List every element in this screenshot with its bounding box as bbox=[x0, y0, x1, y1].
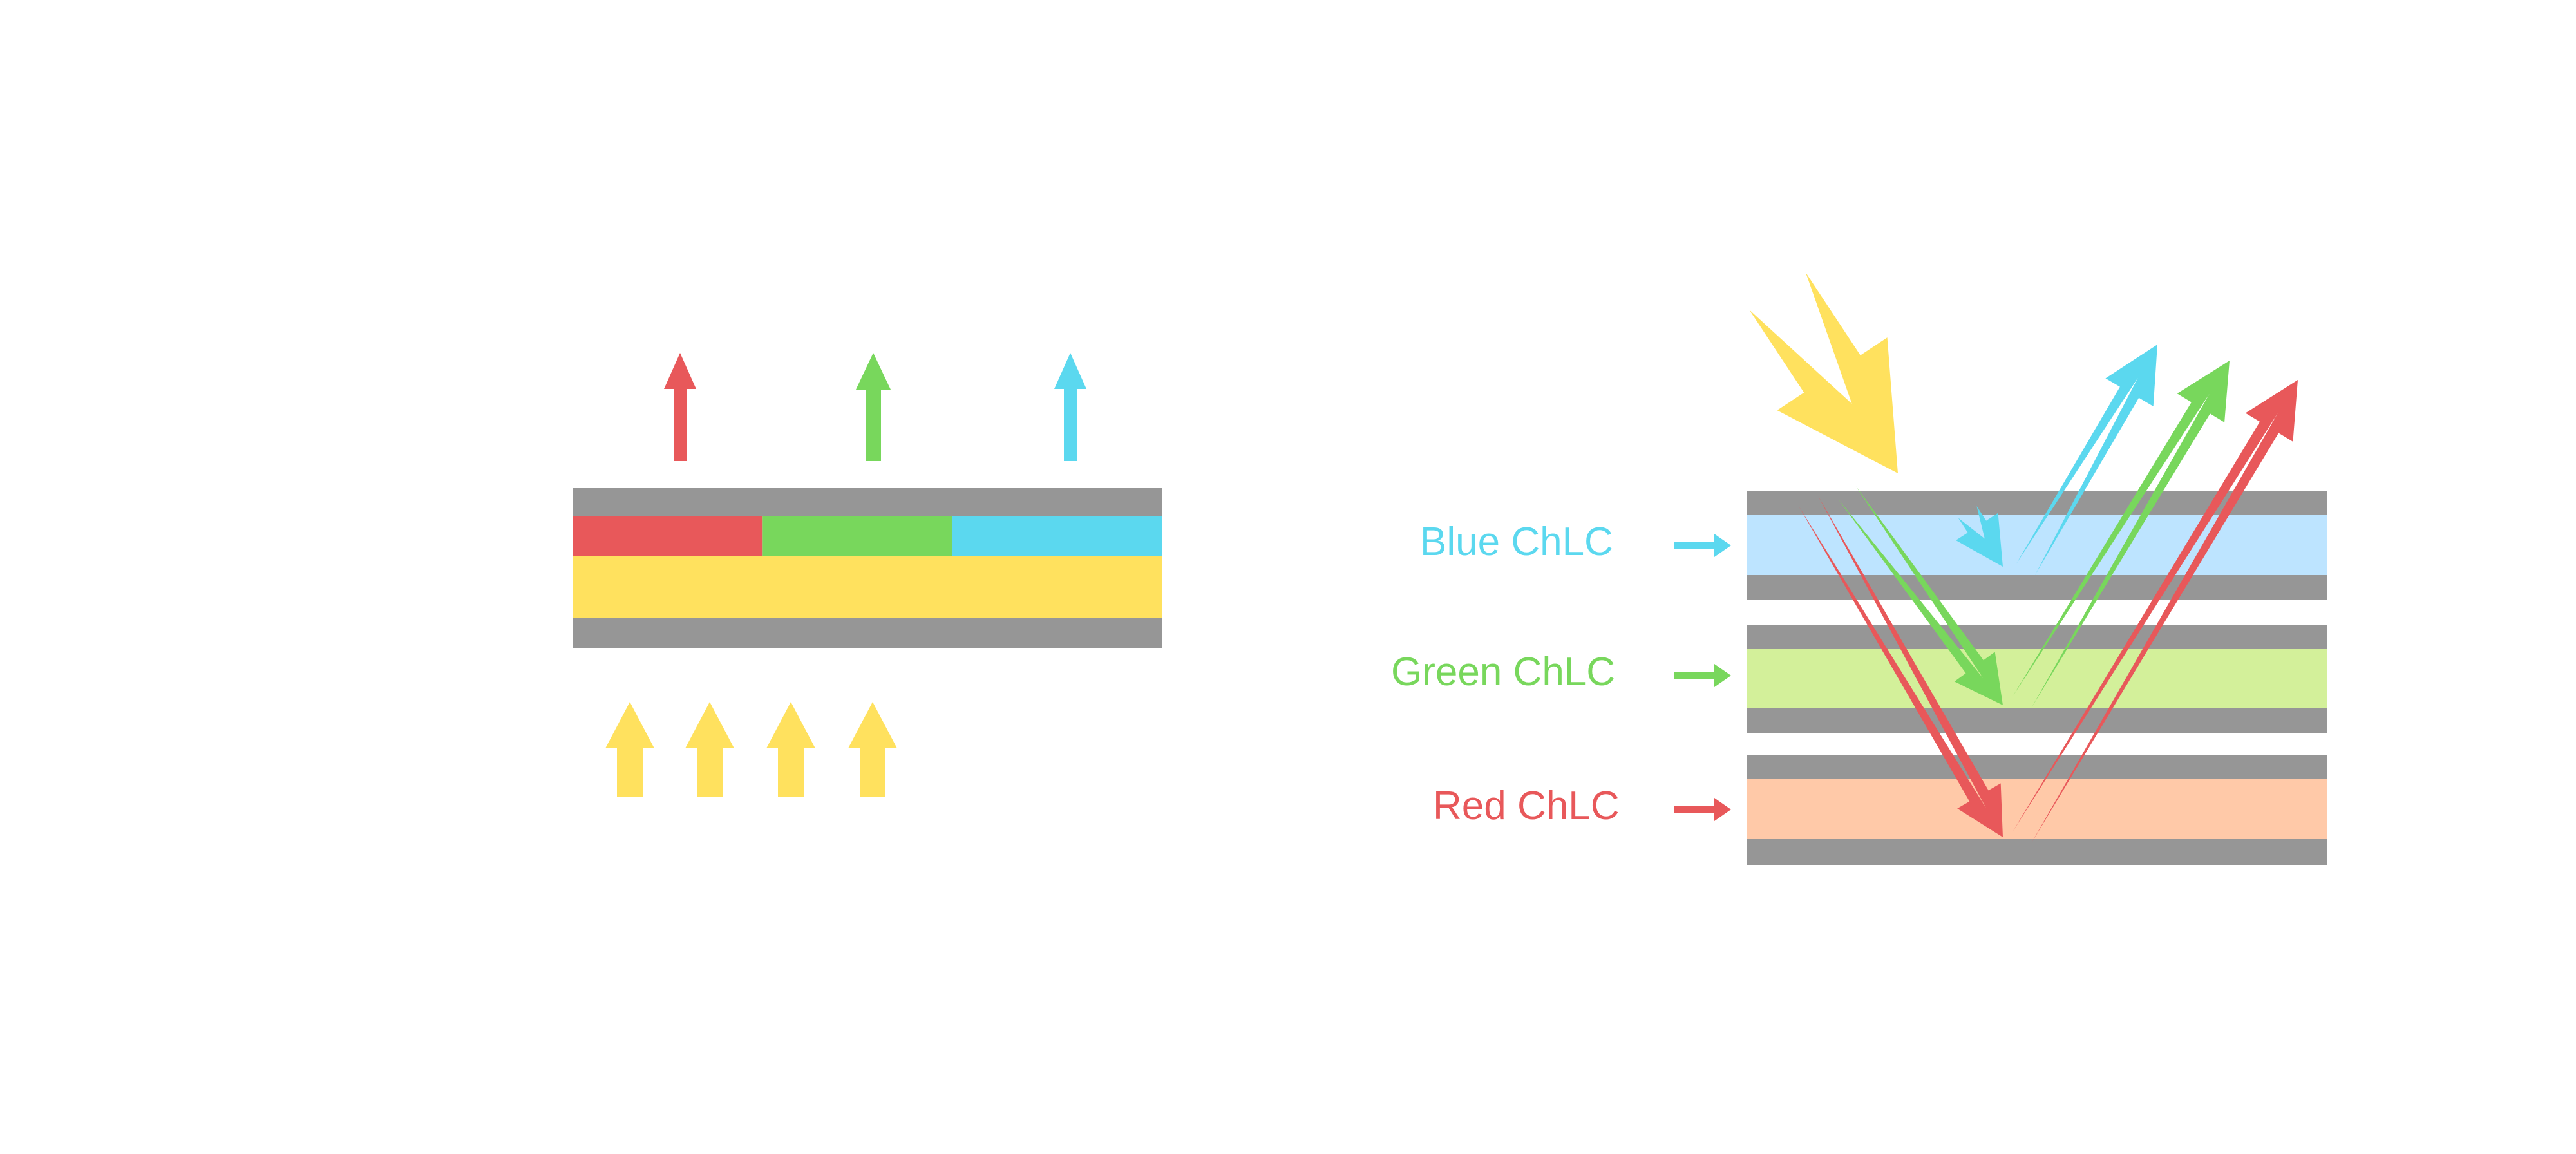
red-chlc-cell-bot-electrode bbox=[1747, 839, 2327, 865]
blue-chlc-cell bbox=[1747, 491, 2327, 600]
top-electrode bbox=[573, 488, 1162, 516]
blue-chlc-cell-bot-electrode bbox=[1747, 575, 2327, 600]
emissive-stack bbox=[573, 488, 1162, 648]
blue-chlc-cell-label: Blue ChLC bbox=[1420, 520, 1613, 564]
backlight-layer bbox=[573, 556, 1162, 618]
red-chlc-cell bbox=[1747, 755, 2327, 865]
green-filter bbox=[762, 516, 952, 556]
bottom-electrode bbox=[573, 618, 1162, 648]
red-chlc-cell-lc-layer bbox=[1747, 779, 2327, 839]
chlc-display-diagram: Blue ChLCGreen ChLCRed ChLC bbox=[0, 0, 2576, 1154]
red-chlc-cell-top-electrode bbox=[1747, 755, 2327, 779]
green-chlc-cell-top-electrode bbox=[1747, 625, 2327, 649]
green-chlc-cell-bot-electrode bbox=[1747, 708, 2327, 733]
red-chlc-cell-label: Red ChLC bbox=[1433, 784, 1619, 828]
blue-filter bbox=[952, 516, 1162, 556]
chlc-cell-stack bbox=[1747, 491, 2327, 865]
green-chlc-cell bbox=[1747, 625, 2327, 733]
red-filter bbox=[573, 516, 762, 556]
green-chlc-cell-label: Green ChLC bbox=[1391, 650, 1615, 694]
diagram-canvas: Blue ChLCGreen ChLCRed ChLC bbox=[0, 0, 2576, 1154]
